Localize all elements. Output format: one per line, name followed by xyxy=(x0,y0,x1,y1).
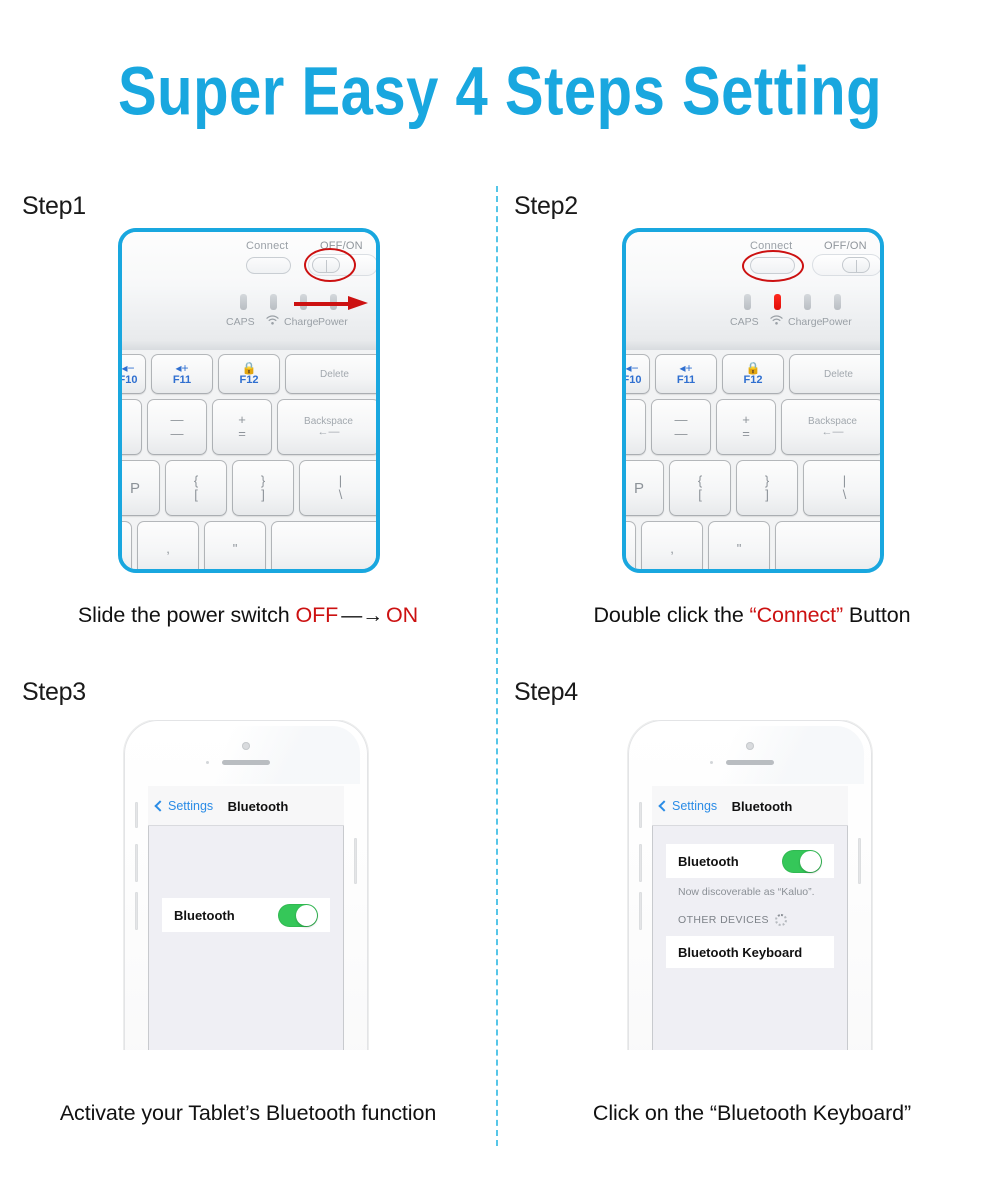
volume-down-button[interactable] xyxy=(639,892,642,930)
volume-down-icon: ◂− xyxy=(121,362,134,374)
wifi-icon xyxy=(266,314,279,328)
connect-button[interactable] xyxy=(246,257,291,274)
keyboard-keys-step1: ◂− F10 ◂+ F11 🔒 F12 Delete xyxy=(122,350,376,569)
connect-button-highlight-ellipse xyxy=(742,250,804,282)
key-plus-equals[interactable]: + = xyxy=(716,399,776,455)
key-quote[interactable]: " xyxy=(708,521,770,573)
keyboard-figure-step2: Connect OFF/ON CAPS xyxy=(622,228,884,573)
step-4-cell: Step4 Settings Bluetooth xyxy=(504,672,1000,1146)
backspace-arrow-icon: ←— xyxy=(318,427,340,438)
phone-figure-step3: Settings Bluetooth Bluetooth xyxy=(110,720,382,1050)
toggle-knob xyxy=(800,851,821,872)
mute-switch[interactable] xyxy=(639,802,642,828)
vertical-divider xyxy=(496,186,498,1146)
key-bracket-right[interactable]: } ] xyxy=(232,460,294,516)
phone-figure-step4: Settings Bluetooth Bluetooth Now discove… xyxy=(614,720,886,1050)
step-2-cell: Step2 Connect OFF/ON CAPS xyxy=(504,186,1000,646)
ios-navbar: Settings Bluetooth xyxy=(148,786,344,826)
other-devices-header: OTHER DEVICES xyxy=(678,914,787,926)
bluetooth-toggle[interactable] xyxy=(782,850,822,873)
keyboard-figure-step1: Connect OFF/ON CAPS xyxy=(118,228,380,573)
key-f10[interactable]: ◂− F10 xyxy=(622,354,650,394)
loading-spinner-icon xyxy=(775,914,787,926)
step-1-caption-on: ON xyxy=(386,603,418,627)
ios-navbar: Settings Bluetooth xyxy=(652,786,848,826)
key-p[interactable]: P xyxy=(622,460,664,516)
earpiece-speaker xyxy=(726,760,774,765)
sensor-dot-icon xyxy=(710,761,713,764)
toggle-knob xyxy=(296,905,317,926)
step-2-caption-connect: “Connect” xyxy=(750,603,844,627)
key-partial-left-r4[interactable] xyxy=(118,521,132,573)
volume-up-icon: ◂+ xyxy=(175,362,188,374)
key-partial-left-r4[interactable] xyxy=(622,521,636,573)
step-2-caption: Double click the “Connect” Button xyxy=(504,603,1000,628)
key-p[interactable]: P xyxy=(118,460,160,516)
wifi-led xyxy=(270,294,277,310)
power-switch-knob[interactable] xyxy=(842,257,870,273)
caps-led xyxy=(744,294,751,310)
navbar-title: Bluetooth xyxy=(652,786,848,826)
key-partial-left-r2[interactable] xyxy=(622,399,646,455)
mute-switch[interactable] xyxy=(135,802,138,828)
slide-direction-arrow xyxy=(294,298,370,310)
key-underscore-dash[interactable]: — — xyxy=(147,399,207,455)
key-quote[interactable]: " xyxy=(204,521,266,573)
offon-label: OFF/ON xyxy=(824,240,867,252)
step-4-caption: Click on the “Bluetooth Keyboard” xyxy=(504,1101,1000,1126)
bluetooth-toggle-row[interactable]: Bluetooth xyxy=(162,898,330,932)
step-1-label: Step1 xyxy=(22,192,86,221)
key-f10[interactable]: ◂− F10 xyxy=(118,354,146,394)
step-3-label: Step3 xyxy=(22,678,86,707)
charge-led-label: Charge xyxy=(284,316,318,328)
step-1-caption: Slide the power switch OFF—→ON xyxy=(0,603,496,628)
earpiece-speaker xyxy=(222,760,270,765)
device-name-label: Bluetooth Keyboard xyxy=(678,945,802,960)
lock-icon: 🔒 xyxy=(746,362,761,374)
key-plus-equals[interactable]: + = xyxy=(212,399,272,455)
connect-label: Connect xyxy=(246,240,288,252)
step-3-cell: Step3 Settings Bluetooth xyxy=(0,672,496,1146)
volume-up-button[interactable] xyxy=(135,844,138,882)
step-3-caption: Activate your Tablet’s Bluetooth functio… xyxy=(0,1101,496,1126)
phone-body: Settings Bluetooth Bluetooth xyxy=(124,720,368,1050)
step-2-caption-suffix: Button xyxy=(843,603,910,627)
key-bracket-right[interactable]: } ] xyxy=(736,460,798,516)
step-1-caption-prefix: Slide the power switch xyxy=(78,603,296,627)
key-backslash[interactable]: | \ xyxy=(803,460,884,516)
bluetooth-toggle-row[interactable]: Bluetooth xyxy=(666,844,834,878)
caps-led-label: CAPS xyxy=(730,316,759,328)
front-camera-icon xyxy=(242,742,250,750)
volume-up-button[interactable] xyxy=(639,844,642,882)
front-camera-icon xyxy=(746,742,754,750)
key-backspace[interactable]: Backspace ←— xyxy=(781,399,884,455)
power-button[interactable] xyxy=(354,838,357,884)
power-led-label: Power xyxy=(318,316,348,328)
wifi-led xyxy=(774,294,781,310)
other-devices-label: OTHER DEVICES xyxy=(678,914,769,926)
power-switch[interactable] xyxy=(812,254,882,276)
caps-led xyxy=(240,294,247,310)
volume-down-button[interactable] xyxy=(135,892,138,930)
key-enter[interactable] xyxy=(775,521,884,573)
power-led xyxy=(834,294,841,310)
step-1-cell: Step1 Connect OFF/ON CAPS xyxy=(0,186,496,646)
volume-up-icon: ◂+ xyxy=(679,362,692,374)
bluetooth-row-label: Bluetooth xyxy=(678,854,739,869)
step-1-caption-arrow: —→ xyxy=(338,604,386,627)
step-2-label: Step2 xyxy=(514,192,578,221)
discoverable-text: Now discoverable as “Kaluo”. xyxy=(678,886,815,898)
keyboard-top-bezel: Connect OFF/ON CAPS xyxy=(122,232,376,350)
wifi-icon xyxy=(770,314,783,328)
power-button[interactable] xyxy=(858,838,861,884)
navbar-title: Bluetooth xyxy=(148,786,344,826)
keyboard-keys-step2: ◂− F10 ◂+ F11 🔒 F12 Delete xyxy=(626,350,880,569)
key-delete[interactable]: Delete xyxy=(285,354,380,394)
power-switch-highlight-ellipse xyxy=(304,248,356,282)
sensor-dot-icon xyxy=(206,761,209,764)
key-backslash[interactable]: | \ xyxy=(299,460,380,516)
key-bracket-left[interactable]: { [ xyxy=(165,460,227,516)
backspace-arrow-icon: ←— xyxy=(822,427,844,438)
charge-led-label: Charge xyxy=(788,316,822,328)
lock-icon: 🔒 xyxy=(242,362,257,374)
volume-down-icon: ◂− xyxy=(625,362,638,374)
charge-led xyxy=(804,294,811,310)
page-title: Super Easy 4 Steps Setting xyxy=(0,52,1000,131)
key-comma-period[interactable]: , xyxy=(641,521,703,573)
step-1-caption-off: OFF xyxy=(296,603,339,627)
step-4-label: Step4 xyxy=(514,678,578,707)
key-partial-left-r2[interactable] xyxy=(118,399,142,455)
key-delete[interactable]: Delete xyxy=(789,354,884,394)
phone-body: Settings Bluetooth Bluetooth Now discove… xyxy=(628,720,872,1050)
bluetooth-row-label: Bluetooth xyxy=(174,908,235,923)
bluetooth-toggle[interactable] xyxy=(278,904,318,927)
key-f12[interactable]: 🔒 F12 xyxy=(722,354,784,394)
key-f11[interactable]: ◂+ F11 xyxy=(655,354,717,394)
caps-led-label: CAPS xyxy=(226,316,255,328)
phone-screen: Settings Bluetooth Bluetooth Now discove… xyxy=(652,786,848,1050)
key-underscore-dash[interactable]: — — xyxy=(651,399,711,455)
key-backspace[interactable]: Backspace ←— xyxy=(277,399,380,455)
key-comma-period[interactable]: , xyxy=(137,521,199,573)
key-f11[interactable]: ◂+ F11 xyxy=(151,354,213,394)
keyboard-top-bezel: Connect OFF/ON CAPS xyxy=(626,232,880,350)
key-f12[interactable]: 🔒 F12 xyxy=(218,354,280,394)
power-led-label: Power xyxy=(822,316,852,328)
key-bracket-left[interactable]: { [ xyxy=(669,460,731,516)
key-enter[interactable] xyxy=(271,521,380,573)
page-root: Super Easy 4 Steps Setting Step1 Connect… xyxy=(0,0,1000,1200)
bluetooth-keyboard-device-row[interactable]: Bluetooth Keyboard xyxy=(666,936,834,968)
phone-screen: Settings Bluetooth Bluetooth xyxy=(148,786,344,1050)
step-2-caption-prefix: Double click the xyxy=(594,603,750,627)
